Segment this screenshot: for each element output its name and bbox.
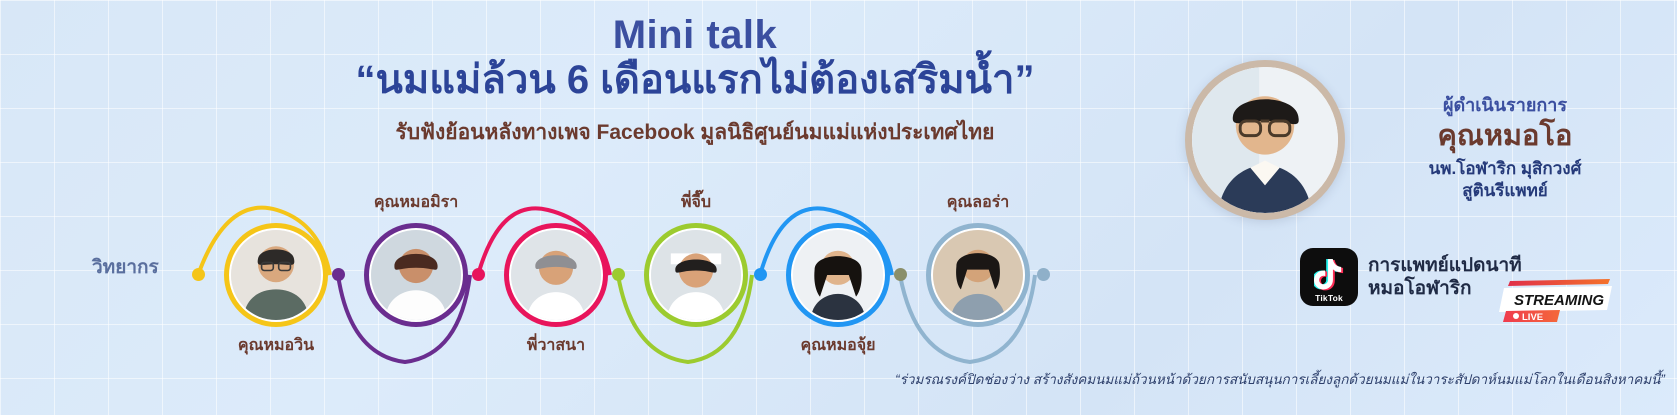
avatar <box>371 230 461 320</box>
header-subtitle: รับฟังย้อนหลังทางเพจ Facebook มูลนิธิศูน… <box>300 116 1090 149</box>
avatar <box>231 230 321 320</box>
connector-dot <box>472 268 485 281</box>
speaker-avatar-3[interactable]: พี่วาสนา <box>504 223 608 327</box>
speaker-name-4: พี่จี๊บ <box>681 190 711 215</box>
channel-info[interactable]: TikTok การแพทย์แปดนาที หมอโอฬาริก <box>1300 248 1522 306</box>
speaker-name-1: คุณหมอวิน <box>238 333 314 358</box>
live-text: LIVE <box>1522 312 1543 322</box>
connector-dot <box>192 268 205 281</box>
connector-dot <box>1037 268 1050 281</box>
avatar <box>511 230 601 320</box>
host-nickname: คุณหมอโอ <box>1350 121 1660 153</box>
streaming-badge: STREAMING LIVE <box>1498 278 1614 322</box>
connector-dot <box>612 268 625 281</box>
speakers-section: วิทยากร คุณหมอวิน <box>0 190 1090 365</box>
speaker-avatar-5[interactable]: คุณหมอจุ้ย <box>786 223 890 327</box>
connector-dot <box>894 268 907 281</box>
speaker-name-6: คุณลอร่า <box>947 190 1010 215</box>
avatar <box>651 230 741 320</box>
speaker-name-5: คุณหมอจุ้ย <box>801 333 876 358</box>
speaker-avatar-1[interactable]: คุณหมอวิน <box>224 223 328 327</box>
host-photo-image <box>1192 67 1338 213</box>
avatar <box>793 230 883 320</box>
connector-dot <box>332 268 345 281</box>
host-role: ผู้ดำเนินรายการ <box>1350 90 1660 119</box>
footer-note: “ร่วมรณรงค์ปิดช่องว่าง สร้างสังคมนมแม่ถ้… <box>890 368 1670 390</box>
channel-line-1: การแพทย์แปดนาที <box>1368 254 1522 277</box>
speaker-name-2: คุณหมอมิรา <box>374 190 458 215</box>
host-specialty: สูตินรีแพทย์ <box>1350 180 1660 202</box>
speaker-avatar-2[interactable]: คุณหมอมิรา <box>364 223 468 327</box>
page-title: Mini talk <box>300 14 1090 57</box>
tiktok-label: TikTok <box>1300 293 1358 303</box>
tiktok-icon[interactable]: TikTok <box>1300 248 1358 306</box>
connector-dot <box>754 268 767 281</box>
host-full-name: นพ.โอฬาริก มุสิกวงศ์ <box>1350 158 1660 180</box>
streaming-text: STREAMING <box>1514 292 1604 309</box>
host-avatar <box>1185 60 1345 220</box>
promo-banner: Mini talk “นมแม่ล้วน 6 เดือนแรกไม่ต้องเส… <box>0 0 1677 415</box>
avatar <box>933 230 1023 320</box>
speaker-name-3: พี่วาสนา <box>527 333 585 358</box>
header: Mini talk “นมแม่ล้วน 6 เดือนแรกไม่ต้องเส… <box>300 14 1090 149</box>
speaker-avatar-4[interactable]: พี่จี๊บ <box>644 223 748 327</box>
page-subtitle-quote: “นมแม่ล้วน 6 เดือนแรกไม่ต้องเสริมน้ำ” <box>300 57 1090 104</box>
host-info: ผู้ดำเนินรายการ คุณหมอโอ นพ.โอฬาริก มุสิ… <box>1350 90 1660 202</box>
speaker-avatar-6[interactable]: คุณลอร่า <box>926 223 1030 327</box>
